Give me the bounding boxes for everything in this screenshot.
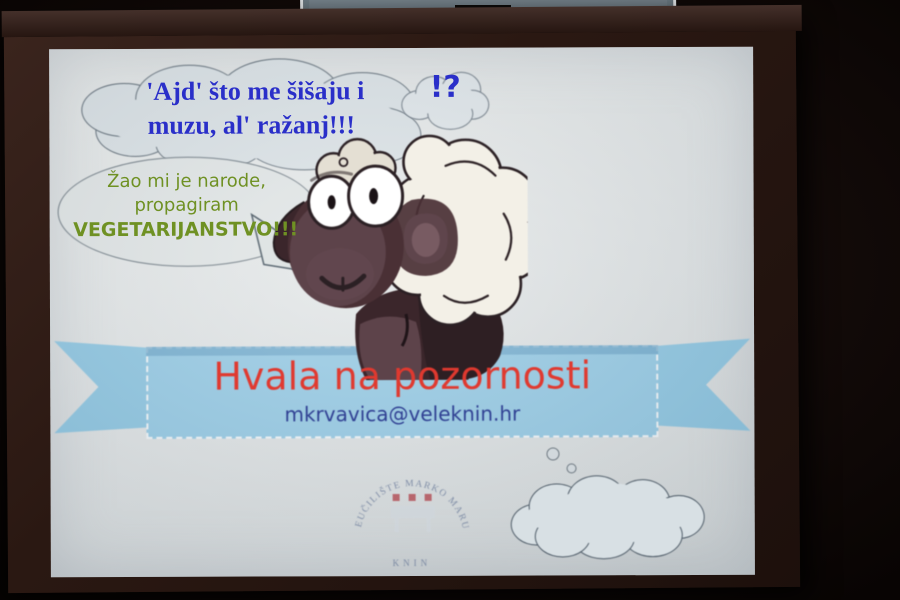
logo-bottom-text: KNIN: [349, 558, 475, 568]
presentation-slide: 'Ajd' što me šišaju i muzu, al' ražanj!!…: [49, 47, 755, 577]
svg-text:VELEUČILIŠTE MARKO MARULIĆ: VELEUČILIŠTE MARKO MARULIĆ: [348, 454, 470, 532]
projection-screen-frame: 'Ajd' što me šišaju i muzu, al' ražanj!!…: [4, 31, 800, 593]
banner-email: mkrvavica@veleknin.hr: [50, 401, 754, 427]
institution-logo: VELEUČILIŠTE MARKO MARULIĆ KNIN: [348, 454, 474, 570]
speech-bubble-green-line2: propagiram: [58, 194, 316, 216]
thought-bubble-curious: [511, 475, 707, 558]
speech-bubble-green-line1: Žao mi je narode,: [58, 170, 316, 192]
logo-arc-text: VELEUČILIŠTE MARKO MARULIĆ: [348, 454, 474, 570]
thought-dot-extra: [546, 447, 559, 460]
speech-bubble-main-line2: muzu, al' ražanj!!!: [101, 110, 401, 141]
speech-bubble-main-line1: 'Ajd' što me šišaju i: [105, 76, 405, 107]
thought-dot-extra2: [567, 463, 577, 473]
thought-bubble-question-text: !?: [401, 70, 489, 105]
banner-title: Hvala na pozornosti: [50, 353, 754, 399]
speech-bubble-green-line3: VEGETARIJANSTVO!!!: [52, 218, 320, 241]
sheep-illustration: [259, 118, 528, 381]
projected-slide-photo: 'Ajd' što me šišaju i muzu, al' ražanj!!…: [0, 0, 900, 600]
screen-top-bar: [2, 5, 802, 37]
